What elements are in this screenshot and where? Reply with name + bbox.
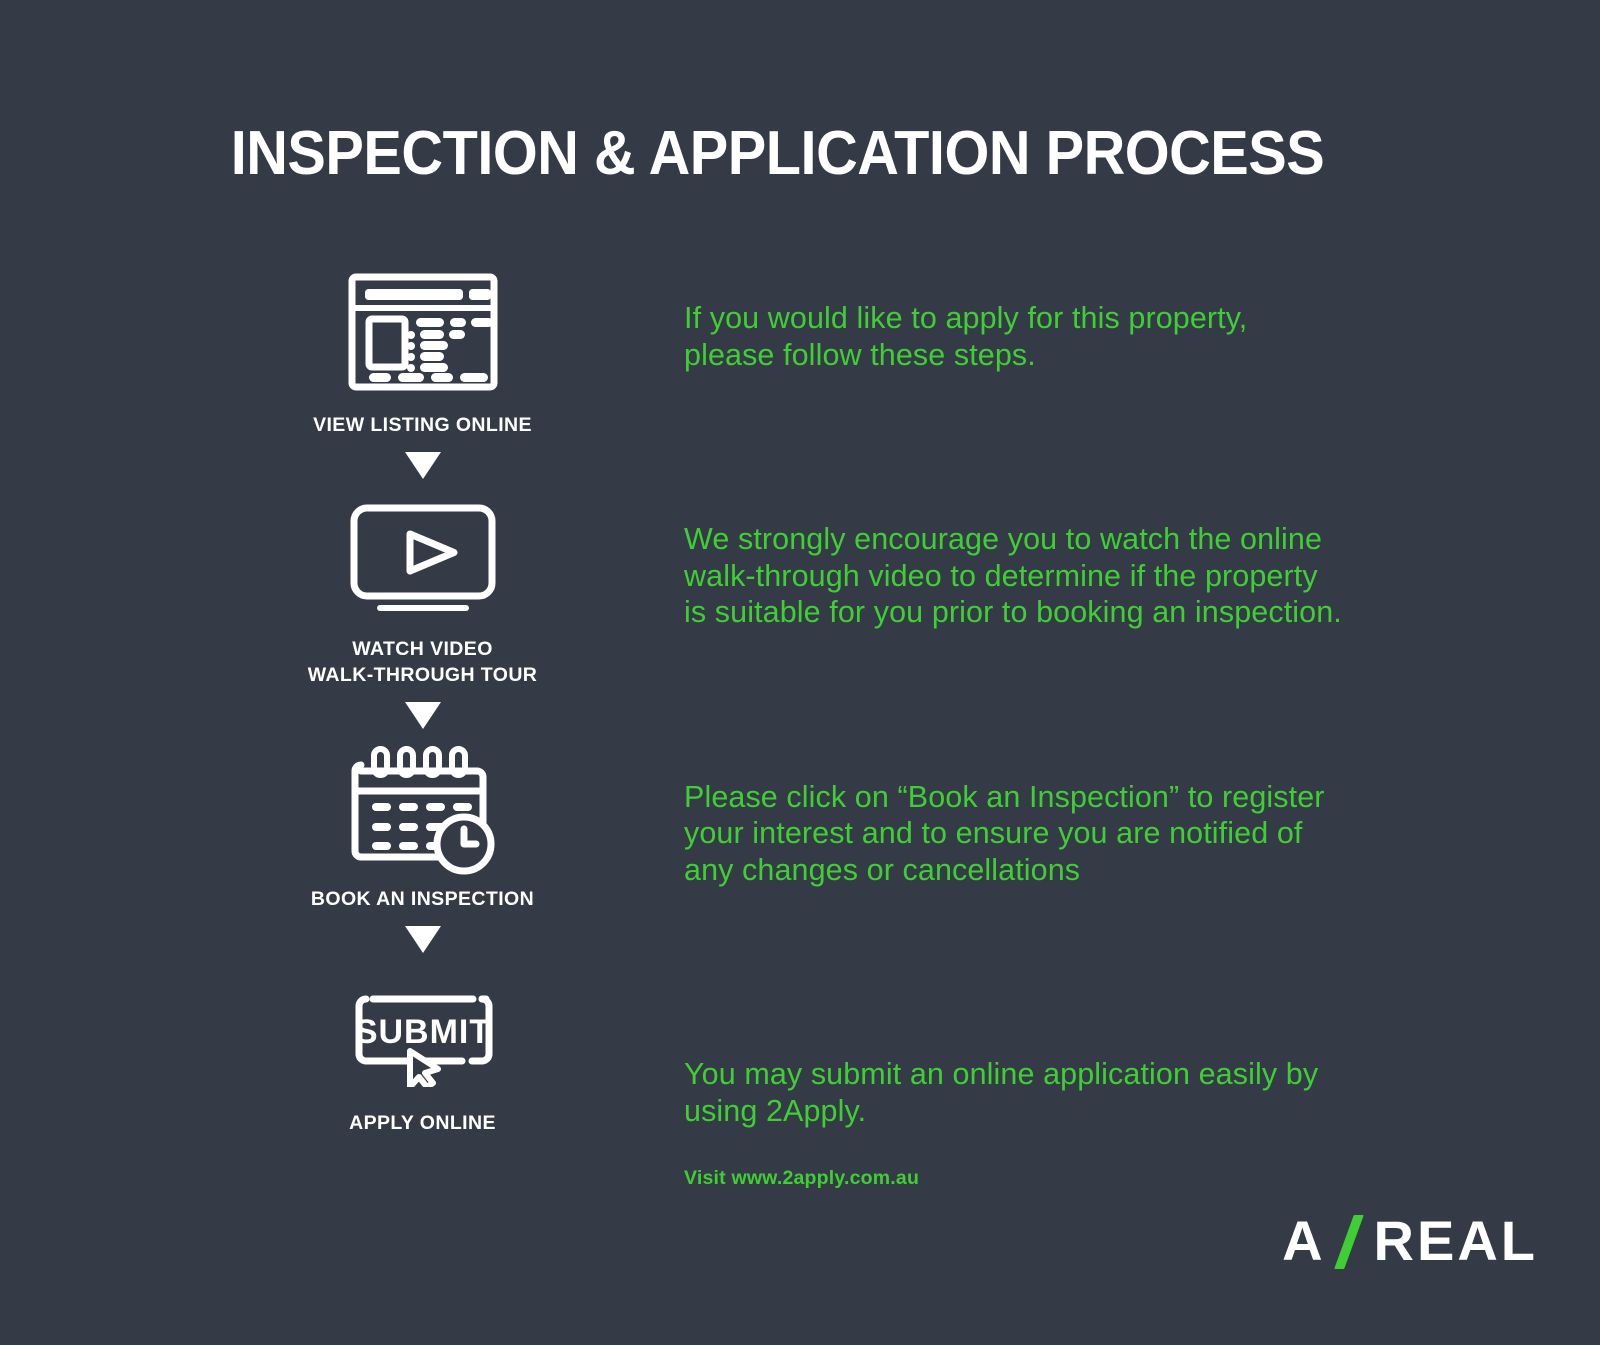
logo-letter-a: A [1282,1208,1325,1273]
visit-link[interactable]: Visit www.2apply.com.au [684,1167,1414,1190]
paragraph-intro: If you would like to apply for this prop… [684,300,1414,373]
step-view-listing-online: VIEW LISTING ONLINE [280,262,565,438]
logo-wordmark: REAL [1374,1208,1538,1273]
flow-arrow-2 [280,702,565,729]
paragraph-inspection: Please click on “Book an Inspection” to … [684,779,1414,889]
calendar-clock-icon [280,741,565,876]
brand-logo: A REAL [1282,1208,1538,1273]
flow-arrow-3 [280,926,565,953]
step-watch-video-walkthrough: WATCH VIDEO WALK-THROUGH TOUR [280,491,565,688]
video-play-monitor-icon [280,491,565,626]
submit-button-cursor-icon: SUBMIT [280,965,565,1100]
svg-text:SUBMIT: SUBMIT [355,1013,491,1051]
slash-icon [1330,1213,1370,1269]
listing-window-icon [280,262,565,402]
paragraph-video: We strongly encourage you to watch the o… [684,521,1414,631]
step-book-an-inspection: BOOK AN INSPECTION [280,741,565,912]
paragraph-apply: You may submit an online application eas… [684,1056,1414,1129]
step-label: BOOK AN INSPECTION [280,886,565,912]
step-apply-online: SUBMIT APPLY ONLINE [280,965,565,1136]
flow-arrow-1 [280,452,565,479]
process-copy-column: If you would like to apply for this prop… [684,300,1414,1190]
step-label: APPLY ONLINE [280,1110,565,1136]
process-steps-column: VIEW LISTING ONLINE WATCH VIDEO WALK-THR… [280,262,565,1136]
infographic-poster: INSPECTION & APPLICATION PROCESS [0,0,1600,1345]
page-title: INSPECTION & APPLICATION PROCESS [54,118,1500,189]
step-label: WATCH VIDEO WALK-THROUGH TOUR [280,636,565,688]
step-label: VIEW LISTING ONLINE [280,412,565,438]
